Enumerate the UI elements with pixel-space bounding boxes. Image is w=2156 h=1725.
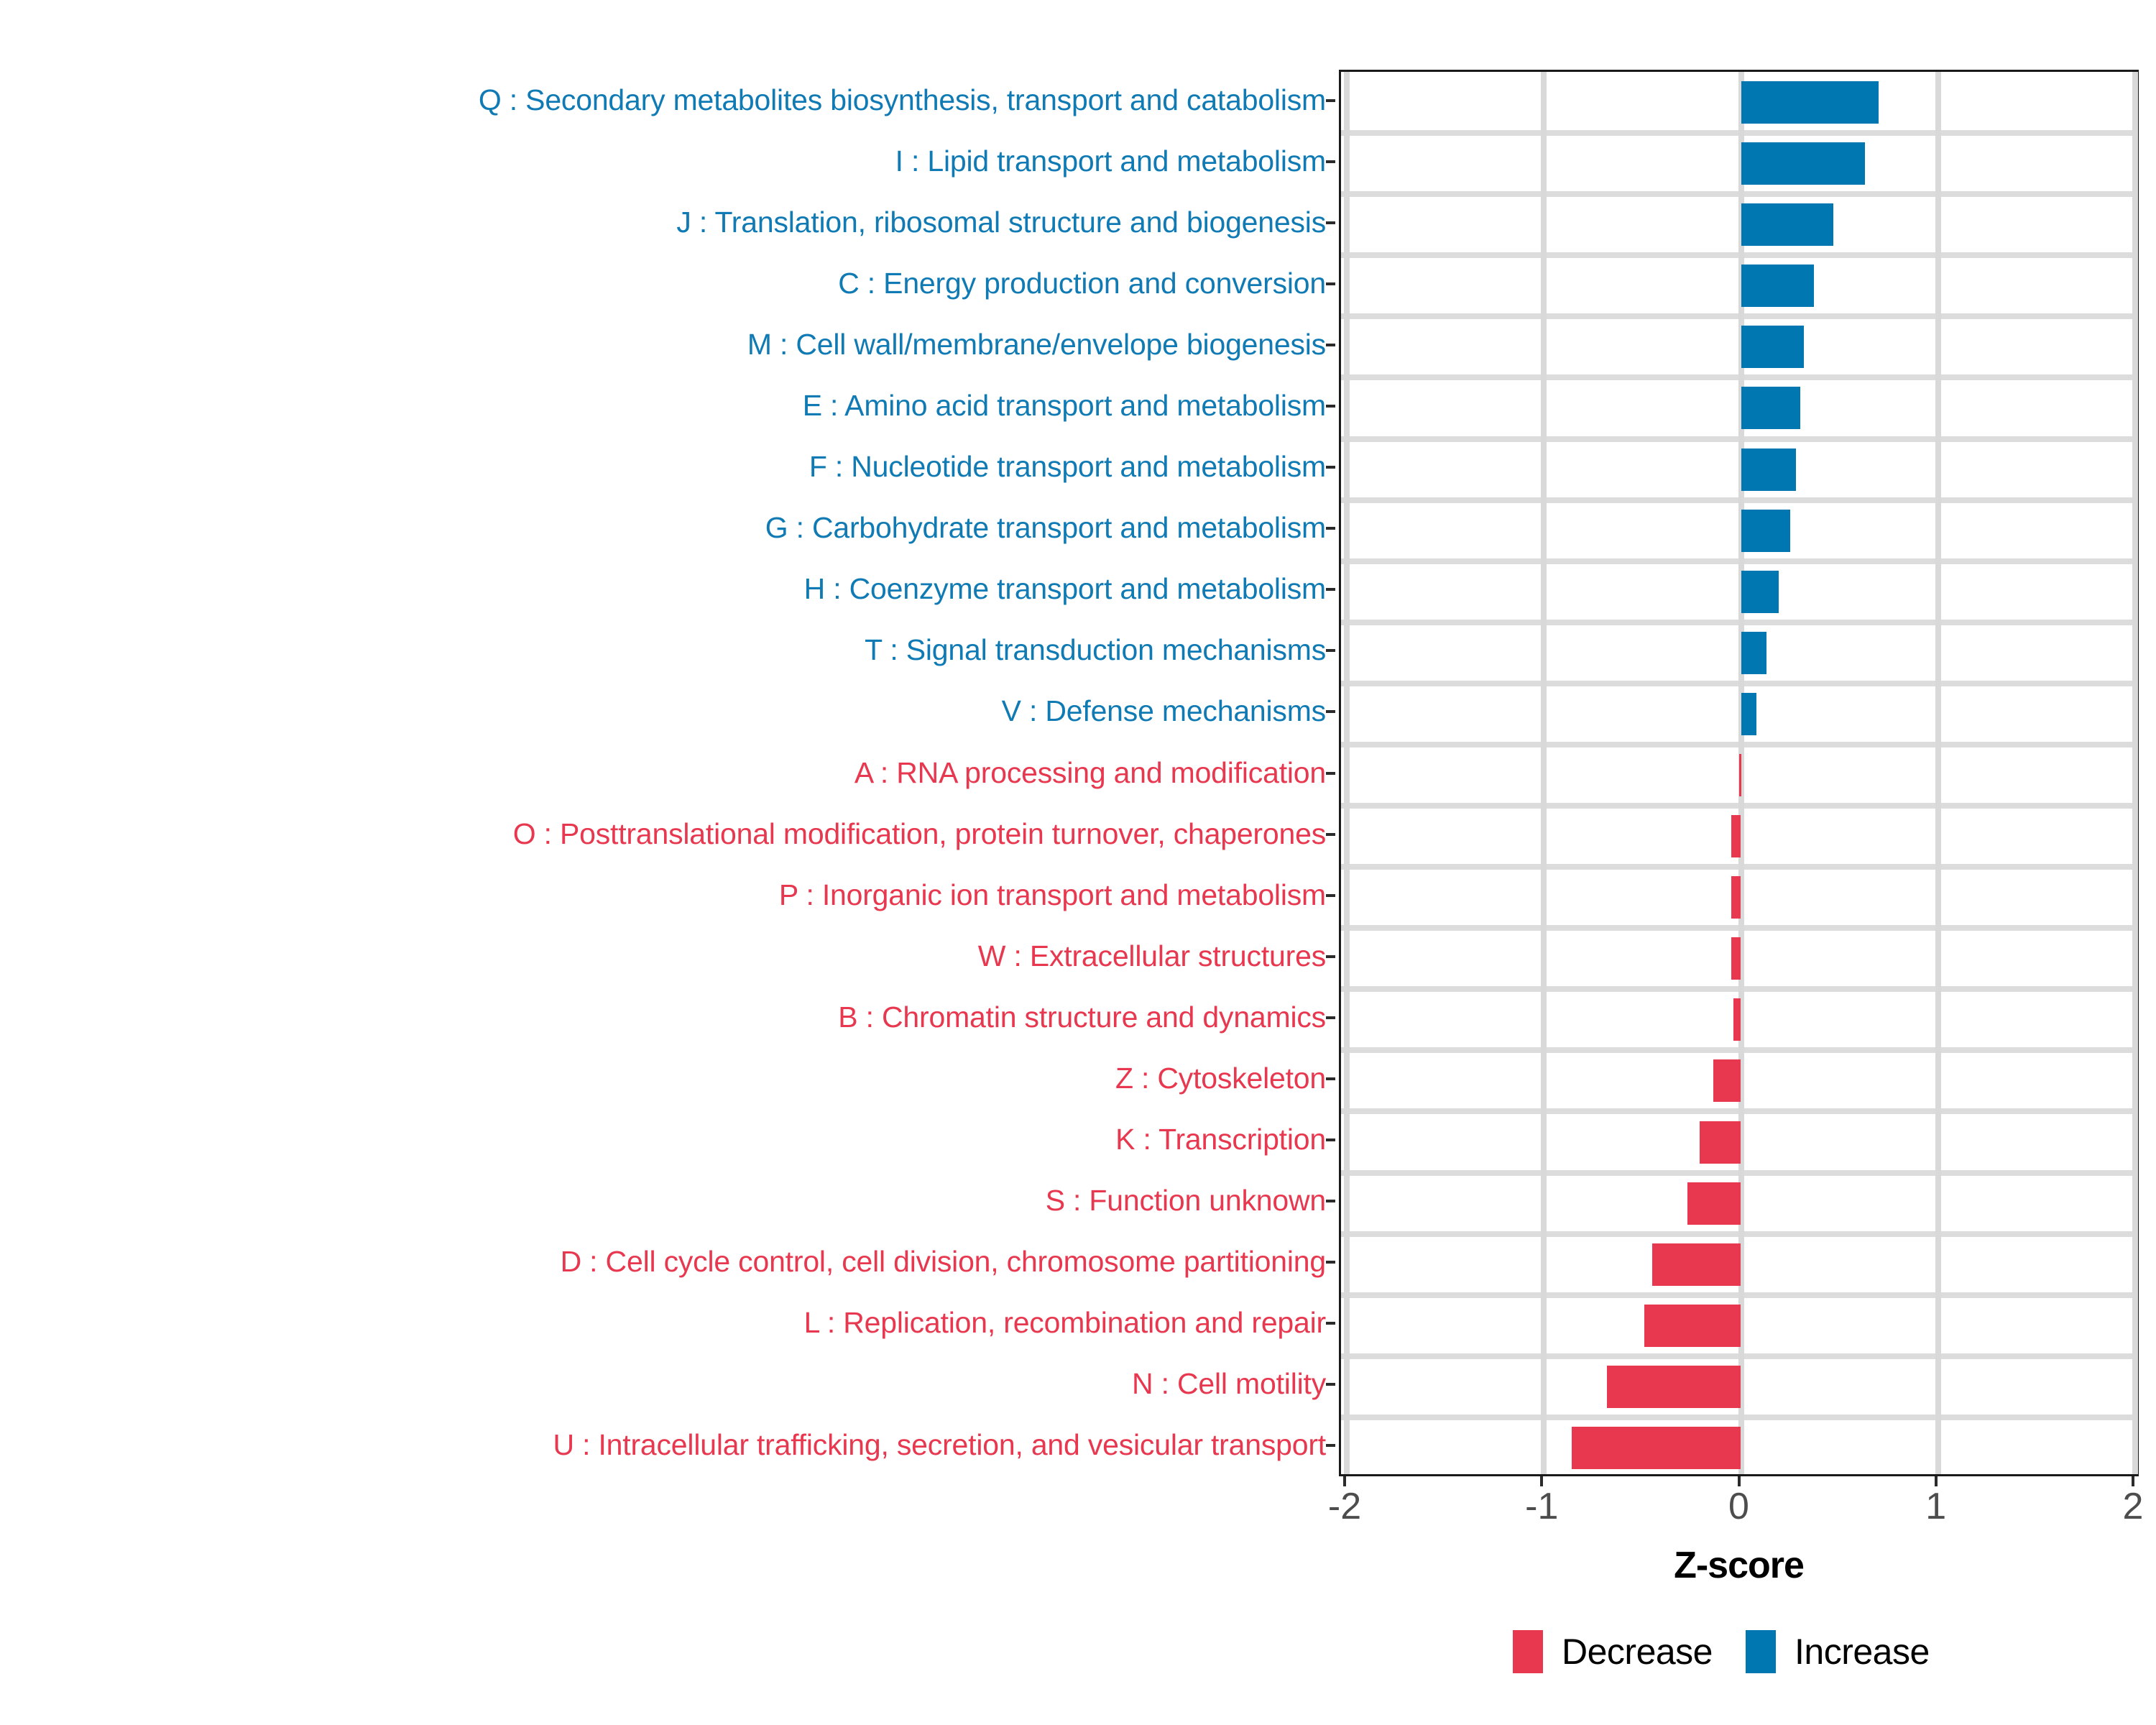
category-label: P : Inorganic ion transport and metaboli…	[0, 880, 1326, 910]
category-label: J : Translation, ribosomal structure and…	[0, 208, 1326, 237]
chart-legend: DecreaseIncrease	[1513, 1630, 1963, 1673]
bar	[1741, 81, 1879, 124]
gridline-vertical	[2132, 72, 2138, 1474]
y-axis-tick	[1326, 221, 1335, 224]
y-axis-tick	[1326, 1322, 1335, 1325]
category-label: V : Defense mechanisms	[0, 696, 1326, 726]
gridline-vertical	[1541, 72, 1547, 1474]
y-axis-tick	[1326, 1261, 1335, 1264]
bar	[1741, 387, 1800, 429]
y-axis-tick	[1326, 1077, 1335, 1080]
category-label: T : Signal transduction mechanisms	[0, 635, 1326, 665]
y-axis-tick	[1326, 772, 1335, 775]
legend-label: Increase	[1795, 1634, 1930, 1670]
category-label: Q : Secondary metabolites biosynthesis, …	[0, 86, 1326, 115]
y-axis-tick	[1326, 894, 1335, 897]
legend-item[interactable]: Decrease	[1513, 1630, 1746, 1673]
gridline-vertical	[1935, 72, 1941, 1474]
y-axis-tick	[1326, 588, 1335, 591]
bar	[1687, 1182, 1741, 1225]
x-axis-tick	[1935, 1476, 1938, 1486]
y-axis-tick	[1326, 1444, 1335, 1447]
bar	[1739, 754, 1741, 796]
bar	[1741, 448, 1797, 491]
plot-area	[1341, 72, 2137, 1474]
cog-z-score-bar-chart: Q : Secondary metabolites biosynthesis, …	[0, 0, 2156, 1725]
legend-label: Decrease	[1562, 1634, 1713, 1670]
bar	[1741, 326, 1805, 368]
legend-swatch-icon	[1513, 1630, 1543, 1673]
y-axis-tick	[1326, 466, 1335, 469]
bar	[1733, 998, 1741, 1041]
bar	[1652, 1243, 1741, 1286]
bar	[1741, 264, 1814, 307]
category-label: D : Cell cycle control, cell division, c…	[0, 1247, 1326, 1276]
bar	[1741, 632, 1767, 674]
bar	[1741, 693, 1757, 735]
bar	[1741, 510, 1791, 552]
bar	[1713, 1059, 1741, 1102]
y-axis-tick	[1326, 1016, 1335, 1019]
y-axis-tick	[1326, 160, 1335, 163]
y-axis-tick	[1326, 1138, 1335, 1141]
category-label: F : Nucleotide transport and metabolism	[0, 452, 1326, 482]
y-axis-tick	[1326, 649, 1335, 652]
x-axis-tick	[1343, 1476, 1346, 1486]
x-axis-tick-label: -1	[1525, 1488, 1558, 1525]
y-axis-tick	[1326, 833, 1335, 836]
x-axis-tick	[2132, 1476, 2134, 1486]
category-label: W : Extracellular structures	[0, 942, 1326, 971]
x-axis-tick-label: 2	[2123, 1488, 2144, 1525]
x-axis-tick	[1738, 1476, 1741, 1486]
bar	[1644, 1305, 1741, 1347]
bar	[1607, 1366, 1741, 1408]
y-axis-tick	[1326, 405, 1335, 408]
legend-item[interactable]: Increase	[1746, 1630, 1963, 1673]
category-label: B : Chromatin structure and dynamics	[0, 1003, 1326, 1032]
gridline-vertical	[1344, 72, 1350, 1474]
y-axis-tick	[1326, 282, 1335, 285]
x-axis-tick	[1540, 1476, 1543, 1486]
x-axis-tick-label: 0	[1728, 1488, 1749, 1525]
bar	[1731, 876, 1741, 919]
plot-panel	[1339, 70, 2139, 1476]
category-label: K : Transcription	[0, 1125, 1326, 1154]
category-label: E : Amino acid transport and metabolism	[0, 391, 1326, 420]
category-label: O : Posttranslational modification, prot…	[0, 819, 1326, 849]
bar	[1700, 1121, 1741, 1164]
bar	[1731, 937, 1741, 980]
bar	[1731, 815, 1741, 857]
category-label: U : Intracellular trafficking, secretion…	[0, 1430, 1326, 1460]
x-axis-title: Z-score	[1339, 1544, 2139, 1587]
y-axis-tick	[1326, 1383, 1335, 1386]
category-axis-labels: Q : Secondary metabolites biosynthesis, …	[0, 70, 1326, 1476]
category-label: L : Replication, recombination and repai…	[0, 1308, 1326, 1338]
category-label: N : Cell motility	[0, 1369, 1326, 1399]
bar	[1741, 203, 1834, 246]
bar	[1741, 571, 1779, 613]
bar	[1741, 142, 1866, 185]
y-axis-tick	[1326, 1200, 1335, 1202]
category-label: G : Carbohydrate transport and metabolis…	[0, 513, 1326, 543]
category-label: H : Coenzyme transport and metabolism	[0, 574, 1326, 604]
y-axis-tick	[1326, 99, 1335, 102]
category-label: Z : Cytoskeleton	[0, 1064, 1326, 1093]
bar	[1572, 1427, 1741, 1469]
y-axis-tick	[1326, 710, 1335, 713]
category-label: C : Energy production and conversion	[0, 269, 1326, 298]
y-axis-tick	[1326, 527, 1335, 530]
y-axis-tick	[1326, 344, 1335, 346]
x-axis-tick-label: -2	[1328, 1488, 1361, 1525]
category-label: A : RNA processing and modification	[0, 758, 1326, 788]
category-label: S : Function unknown	[0, 1186, 1326, 1215]
category-label: M : Cell wall/membrane/envelope biogenes…	[0, 330, 1326, 359]
category-label: I : Lipid transport and metabolism	[0, 147, 1326, 176]
x-axis-tick-label: 1	[1925, 1488, 1946, 1525]
legend-swatch-icon	[1746, 1630, 1776, 1673]
y-axis-tick	[1326, 955, 1335, 958]
